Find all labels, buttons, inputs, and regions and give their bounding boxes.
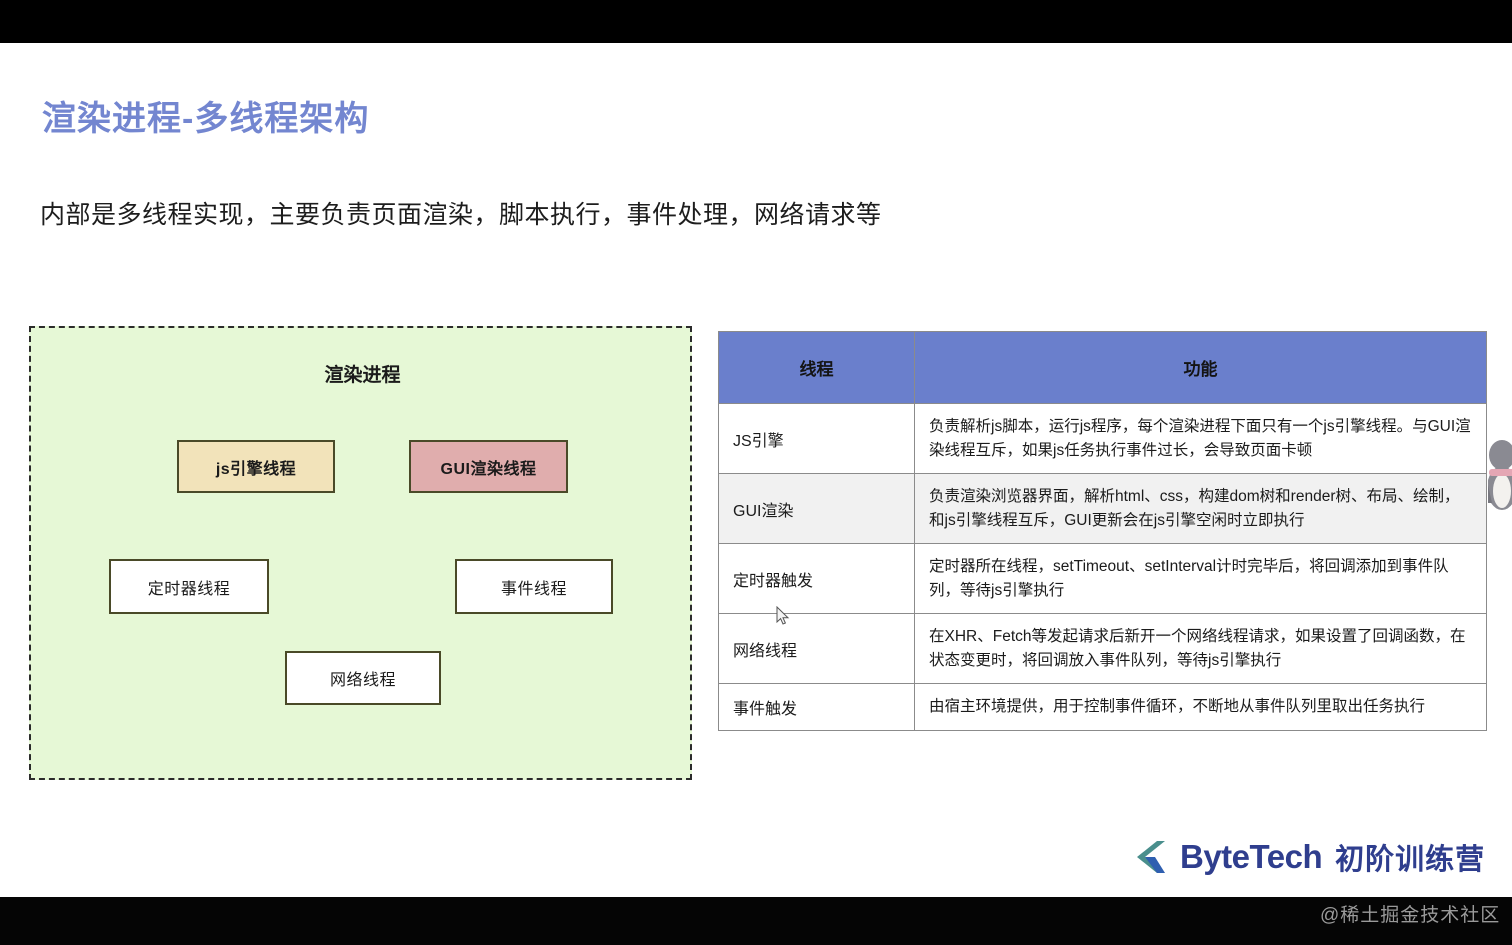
- decorative-character-sticker: [1488, 433, 1512, 519]
- table-row: GUI渲染 负责渲染浏览器界面，解析html、css，构建dom树和render…: [719, 474, 1487, 544]
- diagram-box-network-thread: 网络线程: [285, 651, 441, 705]
- diagram-box-gui-render-thread: GUI渲染线程: [409, 440, 568, 493]
- render-process-diagram: 渲染进程 js引擎线程 GUI渲染线程 定时器线程 事件线程 网络线程: [29, 326, 692, 780]
- diagram-box-js-engine-thread: js引擎线程: [177, 440, 335, 493]
- bytetech-logo: ByteTech 初阶训练营: [1133, 836, 1485, 878]
- cell-thread-name: 定时器触发: [719, 544, 915, 614]
- thread-function-table: 线程 功能 JS引擎 负责解析js脚本，运行js程序，每个渲染进程下面只有一个j…: [718, 331, 1487, 731]
- cell-thread-function: 负责解析js脚本，运行js程序，每个渲染进程下面只有一个js引擎线程。与GUI渲…: [915, 404, 1487, 474]
- column-header-thread: 线程: [719, 332, 915, 404]
- diagram-box-event-thread: 事件线程: [455, 559, 613, 614]
- column-header-function: 功能: [915, 332, 1487, 404]
- diagram-title: 渲染进程: [31, 360, 694, 387]
- slide-canvas: 渲染进程-多线程架构 内部是多线程实现，主要负责页面渲染，脚本执行，事件处理，网…: [0, 43, 1512, 897]
- brand-subtitle: 初阶训练营: [1335, 836, 1485, 878]
- table-row: 定时器触发 定时器所在线程，setTimeout、setInterval计时完毕…: [719, 544, 1487, 614]
- page-subtitle: 内部是多线程实现，主要负责页面渲染，脚本执行，事件处理，网络请求等: [40, 195, 882, 231]
- community-watermark: @稀土掘金技术社区: [1320, 900, 1500, 927]
- page-title: 渲染进程-多线程架构: [42, 91, 369, 140]
- table-row: 事件触发 由宿主环境提供，用于控制事件循环，不断地从事件队列里取出任务执行: [719, 684, 1487, 731]
- mouse-cursor: [776, 606, 790, 626]
- cell-thread-name: 网络线程: [719, 614, 915, 684]
- cell-thread-name: JS引擎: [719, 404, 915, 474]
- cell-thread-function: 由宿主环境提供，用于控制事件循环，不断地从事件队列里取出任务执行: [915, 684, 1487, 731]
- table-row: 网络线程 在XHR、Fetch等发起请求后新开一个网络线程请求，如果设置了回调函…: [719, 614, 1487, 684]
- table-row: JS引擎 负责解析js脚本，运行js程序，每个渲染进程下面只有一个js引擎线程。…: [719, 404, 1487, 474]
- cell-thread-function: 负责渲染浏览器界面，解析html、css，构建dom树和render树、布局、绘…: [915, 474, 1487, 544]
- letterbox-bottom: [0, 897, 1512, 945]
- cell-thread-function: 定时器所在线程，setTimeout、setInterval计时完毕后，将回调添…: [915, 544, 1487, 614]
- chevron-logo-icon: [1133, 839, 1167, 875]
- diagram-box-timer-thread: 定时器线程: [109, 559, 269, 614]
- slide-page: 渲染进程-多线程架构 内部是多线程实现，主要负责页面渲染，脚本执行，事件处理，网…: [0, 0, 1512, 945]
- cell-thread-function: 在XHR、Fetch等发起请求后新开一个网络线程请求，如果设置了回调函数，在状态…: [915, 614, 1487, 684]
- letterbox-top: [0, 0, 1512, 43]
- table-header-row: 线程 功能: [719, 332, 1487, 404]
- cell-thread-name: 事件触发: [719, 684, 915, 731]
- brand-name: ByteTech: [1180, 838, 1322, 876]
- cell-thread-name: GUI渲染: [719, 474, 915, 544]
